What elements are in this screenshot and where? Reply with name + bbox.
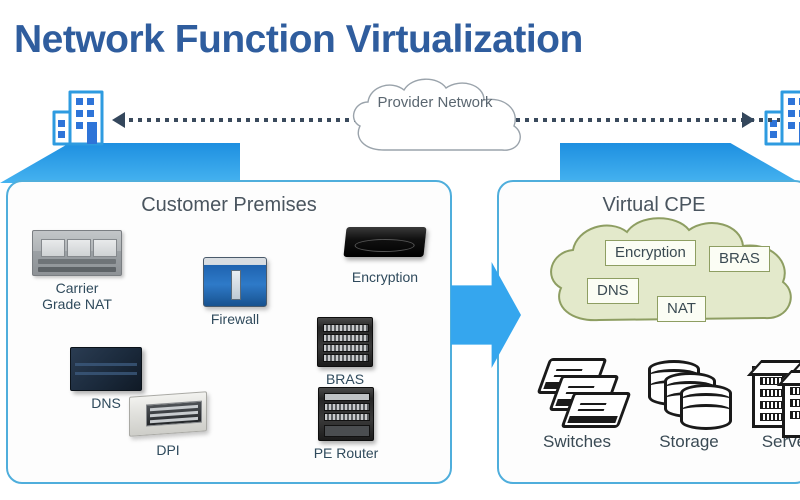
server-rack-icon — [748, 358, 800, 426]
pe-router-icon — [318, 387, 374, 441]
device-encryption: Encryption — [330, 227, 440, 285]
vfunc-dns: DNS — [587, 278, 639, 304]
network-switch-icon — [535, 358, 619, 426]
office-building-icon-left — [50, 86, 106, 148]
device-label: DPI — [120, 442, 216, 458]
device-label: BRAS — [302, 371, 388, 387]
infra-switches: Switches — [527, 358, 627, 452]
infra-storage: Storage — [643, 358, 735, 452]
device-label: Encryption — [330, 269, 440, 285]
provider-network-label: Provider Network — [338, 94, 532, 111]
device-dpi: DPI — [120, 394, 216, 458]
funnel-right-shape — [560, 143, 800, 183]
vfunc-bras: BRAS — [709, 246, 770, 272]
office-building-icon-right — [762, 86, 800, 148]
customer-premises-title: Customer Premises — [8, 194, 450, 217]
infra-label: Storage — [643, 432, 735, 452]
device-label: PE Router — [298, 445, 394, 461]
device-label: Firewall — [190, 311, 280, 327]
arrow-head-right-icon — [742, 112, 755, 128]
bras-chassis-icon — [317, 317, 373, 367]
device-firewall: Firewall — [190, 257, 280, 327]
disk-storage-icon — [648, 358, 730, 426]
device-label: Carrier Grade NAT — [22, 280, 132, 312]
rack-chassis-icon — [32, 230, 122, 276]
provider-network-cloud-icon — [338, 72, 532, 168]
arrow-head-left-icon — [112, 112, 125, 128]
page-title: Network Function Virtualization — [14, 18, 583, 62]
dns-server-icon — [70, 347, 142, 391]
encryption-appliance-icon — [343, 227, 426, 257]
dpi-server-icon — [129, 391, 207, 436]
firewall-appliance-icon — [203, 257, 267, 307]
infra-servers: Servers — [745, 358, 800, 452]
device-pe-router: PE Router — [298, 387, 394, 461]
device-bras: BRAS — [302, 317, 388, 387]
infra-label: Switches — [527, 432, 627, 452]
vfunc-encryption: Encryption — [605, 240, 696, 266]
funnel-left-shape — [0, 143, 240, 183]
nfv-diagram: Network Function Virtualization — [0, 0, 800, 500]
device-carrier-grade-nat: Carrier Grade NAT — [22, 230, 132, 312]
customer-premises-panel: Customer Premises Carrier Grade NAT Fire… — [6, 180, 452, 484]
vfunc-nat: NAT — [657, 296, 706, 322]
